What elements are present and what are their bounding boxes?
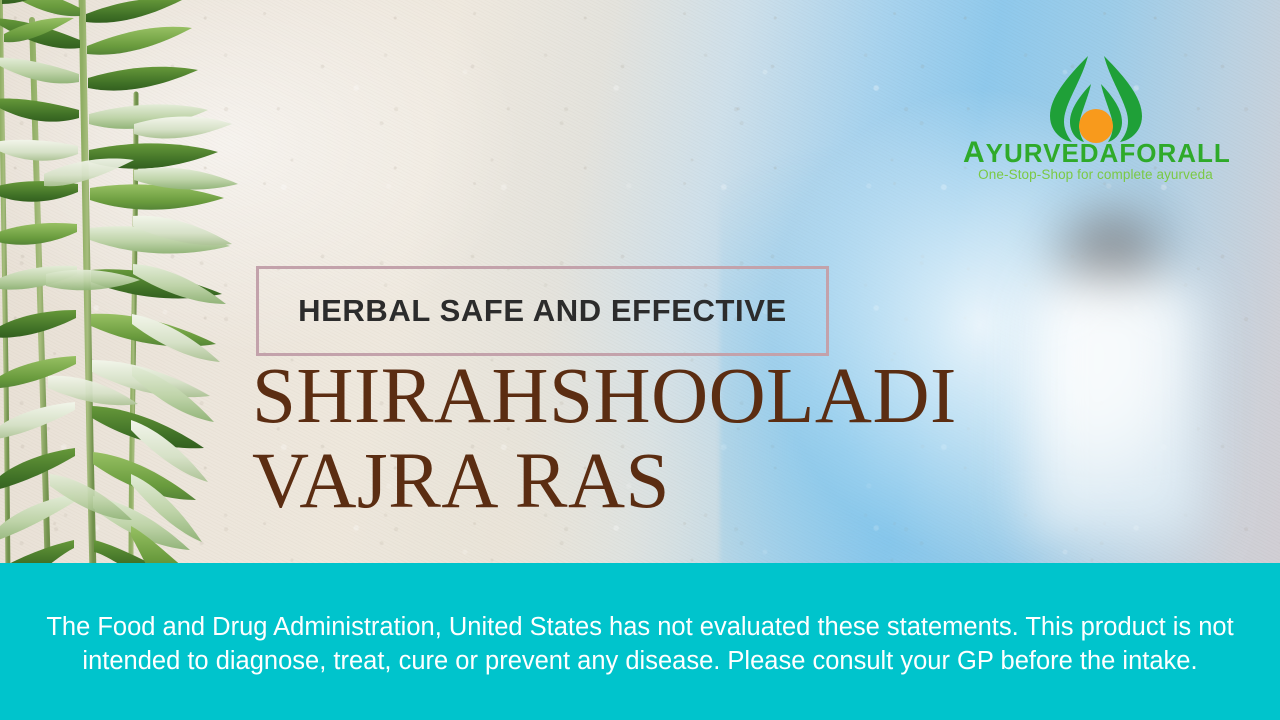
green-flame-leaf-icon	[1036, 52, 1156, 144]
disclaimer-text: The Food and Drug Administration, United…	[26, 611, 1254, 679]
disclaimer-banner: The Food and Drug Administration, United…	[0, 563, 1280, 720]
brand-logo[interactable]: AYURVEDAFORALL One-Stop-Shop for complet…	[963, 52, 1228, 187]
brand-wordmark: AYURVEDAFORALL	[963, 138, 1228, 168]
brand-wordmark-initial: A	[963, 136, 986, 169]
title-line-1: SHIRAHSHOOLADI	[252, 358, 1082, 435]
title-line-2: VAJRA RAS	[252, 443, 1082, 520]
page-title: SHIRAHSHOOLADI VAJRA RAS	[252, 358, 1082, 521]
rosemary-svg	[0, 0, 254, 574]
eyebrow-box: HERBAL SAFE AND EFFECTIVE	[256, 266, 829, 356]
promo-banner: AYURVEDAFORALL One-Stop-Shop for complet…	[0, 0, 1280, 720]
eyebrow-text: HERBAL SAFE AND EFFECTIVE	[298, 293, 787, 329]
brand-wordmark-rest: YURVEDAFORALL	[986, 138, 1231, 168]
rosemary-sprigs	[0, 0, 254, 574]
brand-tagline: One-Stop-Shop for complete ayurveda	[963, 168, 1228, 182]
